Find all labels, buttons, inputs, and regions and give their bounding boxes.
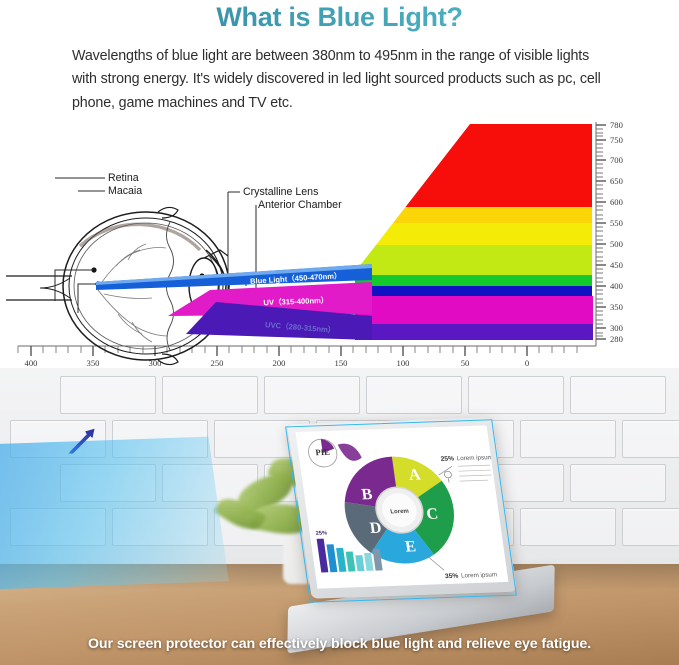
svg-text:350: 350 xyxy=(610,302,623,312)
band-orange xyxy=(349,207,599,223)
page-title: What is Blue Light? xyxy=(0,0,679,33)
svg-text:PIE: PIE xyxy=(315,447,331,457)
svg-text:450: 450 xyxy=(610,260,623,270)
band-red xyxy=(349,122,599,207)
band-violet xyxy=(355,324,593,340)
svg-text:280: 280 xyxy=(610,334,623,344)
label-crystalline-lens: Crystalline Lens xyxy=(243,186,318,198)
svg-text:25%: 25% xyxy=(440,455,454,462)
eye-and-spectrum-diagram: 780 750 700 650 600 550 500 450 400 350 … xyxy=(0,118,679,368)
svg-text:25%: 25% xyxy=(315,531,327,537)
svg-text:400: 400 xyxy=(610,281,623,291)
svg-text:600: 600 xyxy=(610,197,623,207)
svg-text:Lorem ipsum: Lorem ipsum xyxy=(461,571,498,579)
svg-text:650: 650 xyxy=(610,176,623,186)
spectrum-bands-lower xyxy=(355,296,593,340)
svg-text:400: 400 xyxy=(25,358,38,368)
band-yellow-green xyxy=(349,245,599,275)
svg-text:250: 250 xyxy=(211,358,224,368)
lifestyle-photo: PIE Lorem xyxy=(0,368,679,665)
svg-text:700: 700 xyxy=(610,155,623,165)
svg-text:35%: 35% xyxy=(445,573,459,580)
spectrum-y-axis: 780 750 700 650 600 550 500 450 400 350 … xyxy=(596,120,623,346)
band-yellow xyxy=(349,223,599,245)
band-green xyxy=(349,275,599,286)
svg-text:350: 350 xyxy=(87,358,100,368)
svg-text:100: 100 xyxy=(397,358,410,368)
info-section: What is Blue Light? Wavelengths of blue … xyxy=(0,0,679,368)
svg-text:50: 50 xyxy=(461,358,470,368)
svg-text:150: 150 xyxy=(335,358,348,368)
diagram-svg: 780 750 700 650 600 550 500 450 400 350 … xyxy=(0,118,679,368)
svg-text:550: 550 xyxy=(610,218,623,228)
svg-text:0: 0 xyxy=(525,358,529,368)
label-anterior-chamber: Anterior Chamber xyxy=(258,199,342,211)
svg-text:200: 200 xyxy=(273,358,286,368)
photo-caption: Our screen protector can effectively blo… xyxy=(0,636,679,652)
label-macaia: Macaia xyxy=(108,185,142,197)
svg-text:500: 500 xyxy=(610,239,623,249)
label-retina: Retina xyxy=(108,172,139,184)
eye-labels: Retina Macaia Crystalline Lens Anterior … xyxy=(108,172,342,211)
svg-text:Lorem: Lorem xyxy=(390,509,409,516)
svg-text:780: 780 xyxy=(610,120,623,130)
pie-label-d: D xyxy=(369,520,383,537)
laptop-screen: PIE Lorem xyxy=(296,425,509,588)
spectrum-x-axis: 400 350 300 250 200 150 100 50 0 xyxy=(18,346,596,368)
svg-text:300: 300 xyxy=(610,323,623,333)
pie-label-c: C xyxy=(425,506,439,523)
svg-text:750: 750 xyxy=(610,135,623,145)
svg-text:Lorem ipsum: Lorem ipsum xyxy=(456,454,493,462)
slide-content: PIE Lorem xyxy=(296,425,509,588)
intro-paragraph: Wavelengths of blue light are between 38… xyxy=(72,45,607,115)
band-magenta-2 xyxy=(355,296,593,324)
